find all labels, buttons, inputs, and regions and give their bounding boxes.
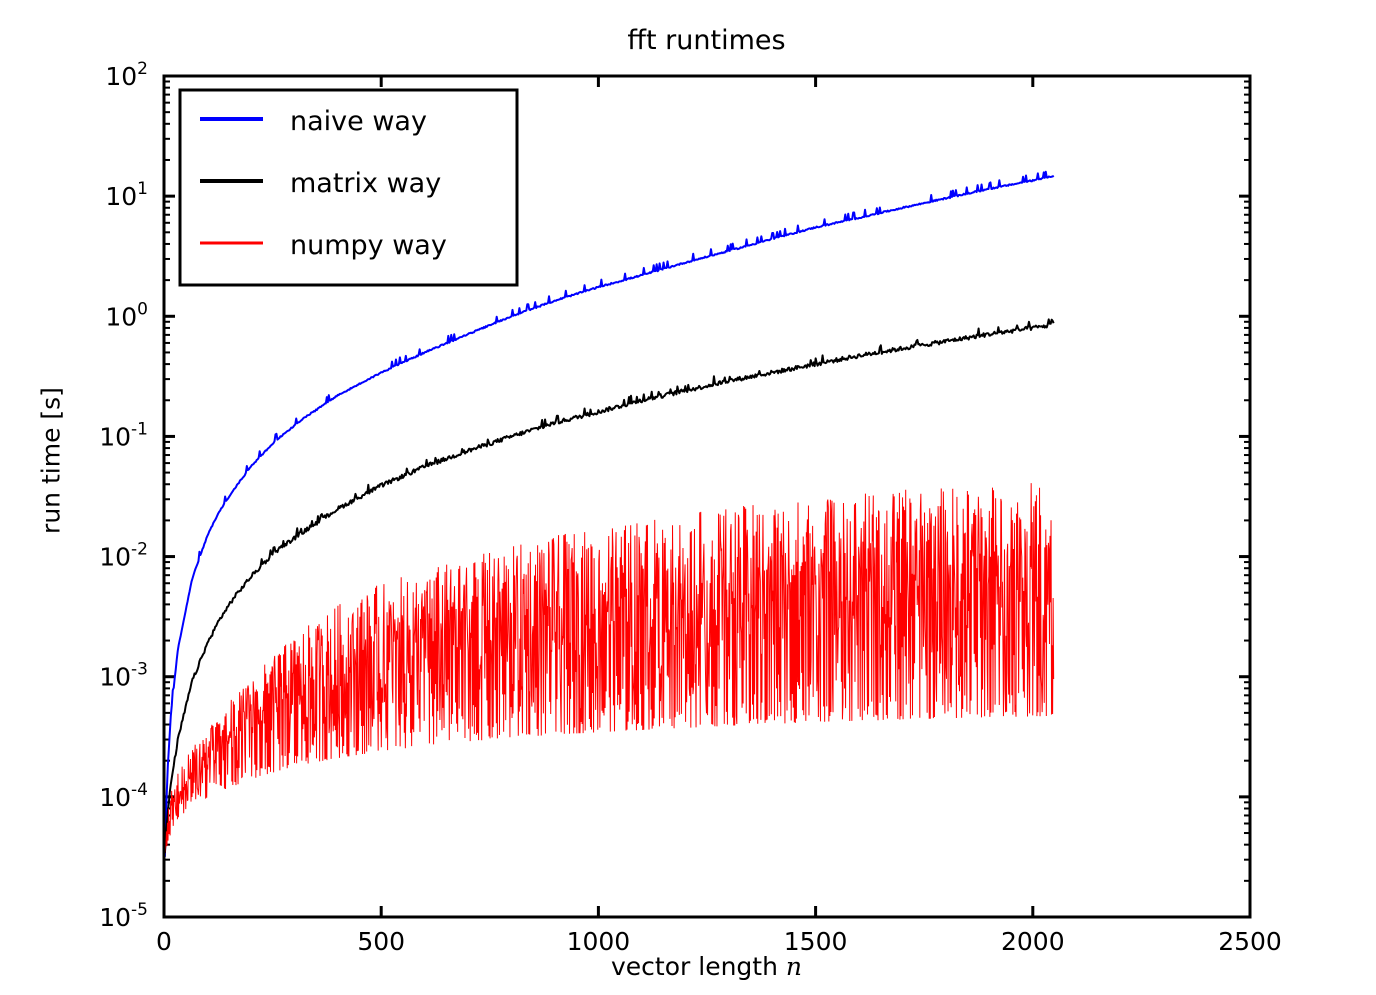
y-tick-label: 10-4: [99, 780, 148, 812]
y-tick-label: 101: [105, 179, 148, 211]
y-tick-label: 10-2: [99, 540, 148, 572]
x-tick-label: 1500: [784, 927, 848, 956]
x-tick-label: 0: [156, 927, 172, 956]
plot-svg: 10-510-410-310-210-1100101102 0500100015…: [0, 0, 1376, 995]
legend-label-numpy-way: numpy way: [290, 230, 447, 261]
x-tick-label: 500: [357, 927, 405, 956]
y-tick-label: 10-5: [99, 900, 148, 932]
x-tick-label: 2000: [1001, 927, 1065, 956]
legend-label-naive-way: naive way: [290, 106, 427, 137]
y-tick-label: 10-3: [99, 660, 148, 692]
y-tick-label: 102: [105, 59, 148, 91]
y-tick-label: 10-1: [99, 419, 148, 451]
figure-canvas: fft runtimes run time [s] vector length …: [0, 0, 1376, 995]
y-tick-label: 100: [105, 299, 148, 331]
x-tick-label: 2500: [1218, 927, 1282, 956]
x-tick-label: 1000: [567, 927, 631, 956]
y-axis-tick-labels: 10-510-410-310-210-1100101102: [99, 59, 148, 932]
x-axis-tick-labels: 05001000150020002500: [156, 927, 1282, 956]
legend-label-matrix-way: matrix way: [290, 168, 441, 199]
chart-legend[interactable]: naive waymatrix waynumpy way: [180, 90, 517, 285]
